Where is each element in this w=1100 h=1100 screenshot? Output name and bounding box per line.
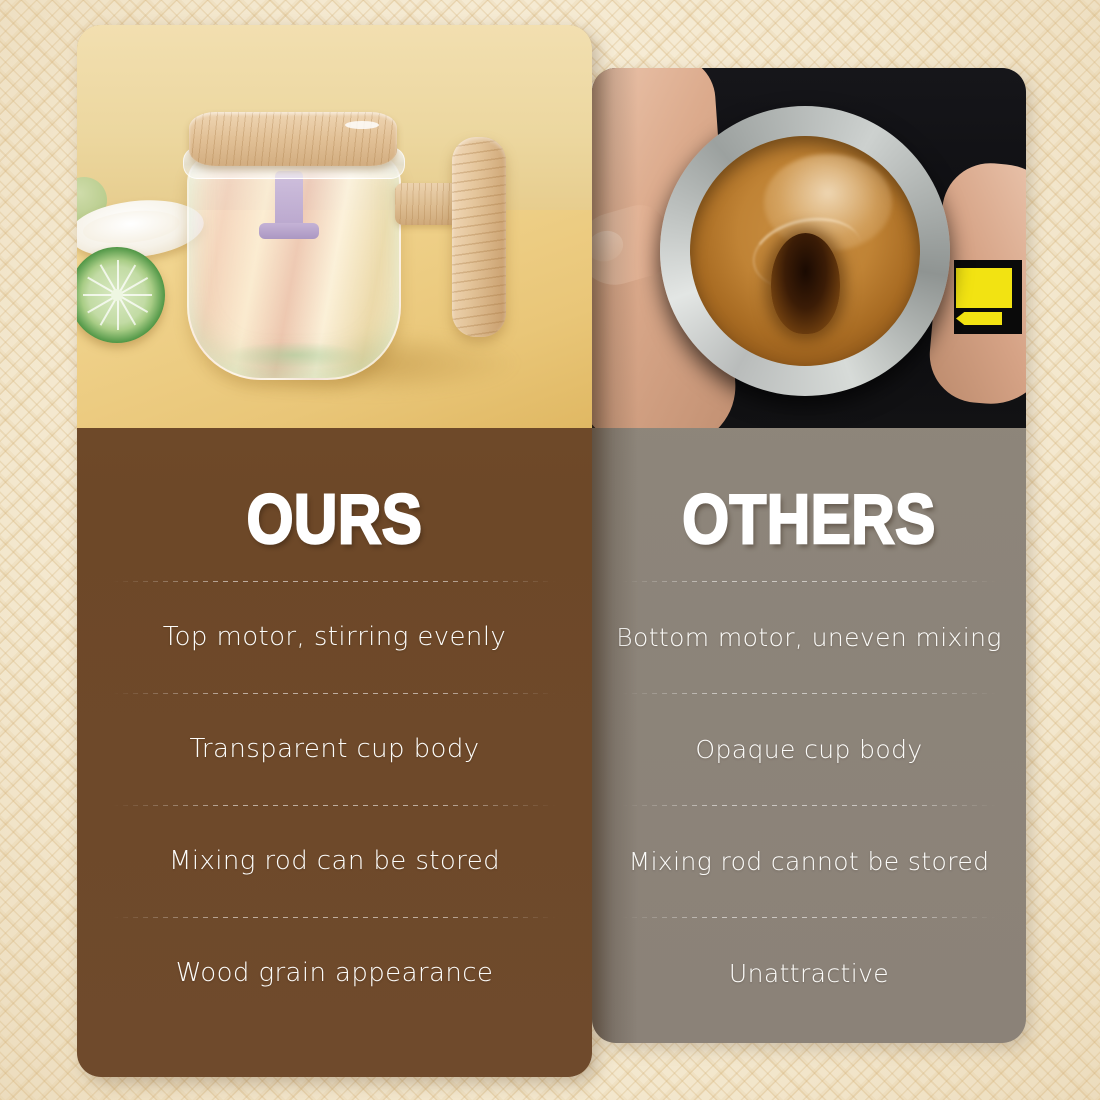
stirring-rod xyxy=(275,171,303,231)
feature-text: Transparent cup body xyxy=(189,734,479,764)
row-divider xyxy=(622,805,995,806)
comparison-column-others: OTHERS Bottom motor, uneven mixing Opaqu… xyxy=(592,68,1026,1043)
glass-self-stirring-mug-photo xyxy=(77,25,592,428)
feature-text: Unattractive xyxy=(729,959,889,988)
steel-mug-rim xyxy=(660,106,950,396)
photo-scene-others xyxy=(592,68,1026,428)
row-divider xyxy=(622,581,995,582)
feature-list-others: Bottom motor, uneven mixing Opaque cup b… xyxy=(592,581,1026,1029)
feature-text: Opaque cup body xyxy=(695,735,922,764)
wood-grain-lid xyxy=(189,112,397,166)
label-block xyxy=(956,268,1012,308)
comparison-stage: OURS Top motor, stirring evenly Transpar… xyxy=(0,0,1100,1100)
row-divider xyxy=(113,805,556,806)
feature-row: Opaque cup body xyxy=(592,693,1026,805)
stainless-steel-mug-coffee-vortex-photo xyxy=(592,68,1026,428)
feature-text: Top motor, stirring evenly xyxy=(163,622,506,652)
coffee-vortex xyxy=(771,233,840,334)
row-divider xyxy=(113,917,556,918)
coffee-surface xyxy=(690,136,920,366)
feature-text: Mixing rod cannot be stored xyxy=(629,847,990,876)
feature-row: Unattractive xyxy=(592,917,1026,1029)
label-arrow-icon xyxy=(956,312,1002,325)
lime-core xyxy=(111,289,123,301)
row-divider xyxy=(113,693,556,694)
feature-row: Wood grain appearance xyxy=(77,917,592,1029)
row-divider xyxy=(113,581,556,582)
feature-text: Bottom motor, uneven mixing xyxy=(616,623,1002,652)
row-divider xyxy=(622,917,995,918)
feature-list-ours: Top motor, stirring evenly Transparent c… xyxy=(77,581,592,1029)
photo-scene-ours xyxy=(77,25,592,428)
feature-row: Bottom motor, uneven mixing xyxy=(592,581,1026,693)
wood-grain-handle-grip xyxy=(452,137,506,337)
feature-row: Top motor, stirring evenly xyxy=(77,581,592,693)
column-heading-others: OTHERS xyxy=(622,480,995,558)
feature-row: Transparent cup body xyxy=(77,693,592,805)
feature-text: Wood grain appearance xyxy=(176,958,494,988)
row-divider xyxy=(622,693,995,694)
comparison-column-ours: OURS Top motor, stirring evenly Transpar… xyxy=(77,25,592,1077)
column-heading-ours: OURS xyxy=(113,480,556,558)
feature-text: Mixing rod can be stored xyxy=(169,846,500,876)
feature-row: Mixing rod can be stored xyxy=(77,805,592,917)
yellow-label-sticker xyxy=(954,260,1022,334)
feature-row: Mixing rod cannot be stored xyxy=(592,805,1026,917)
